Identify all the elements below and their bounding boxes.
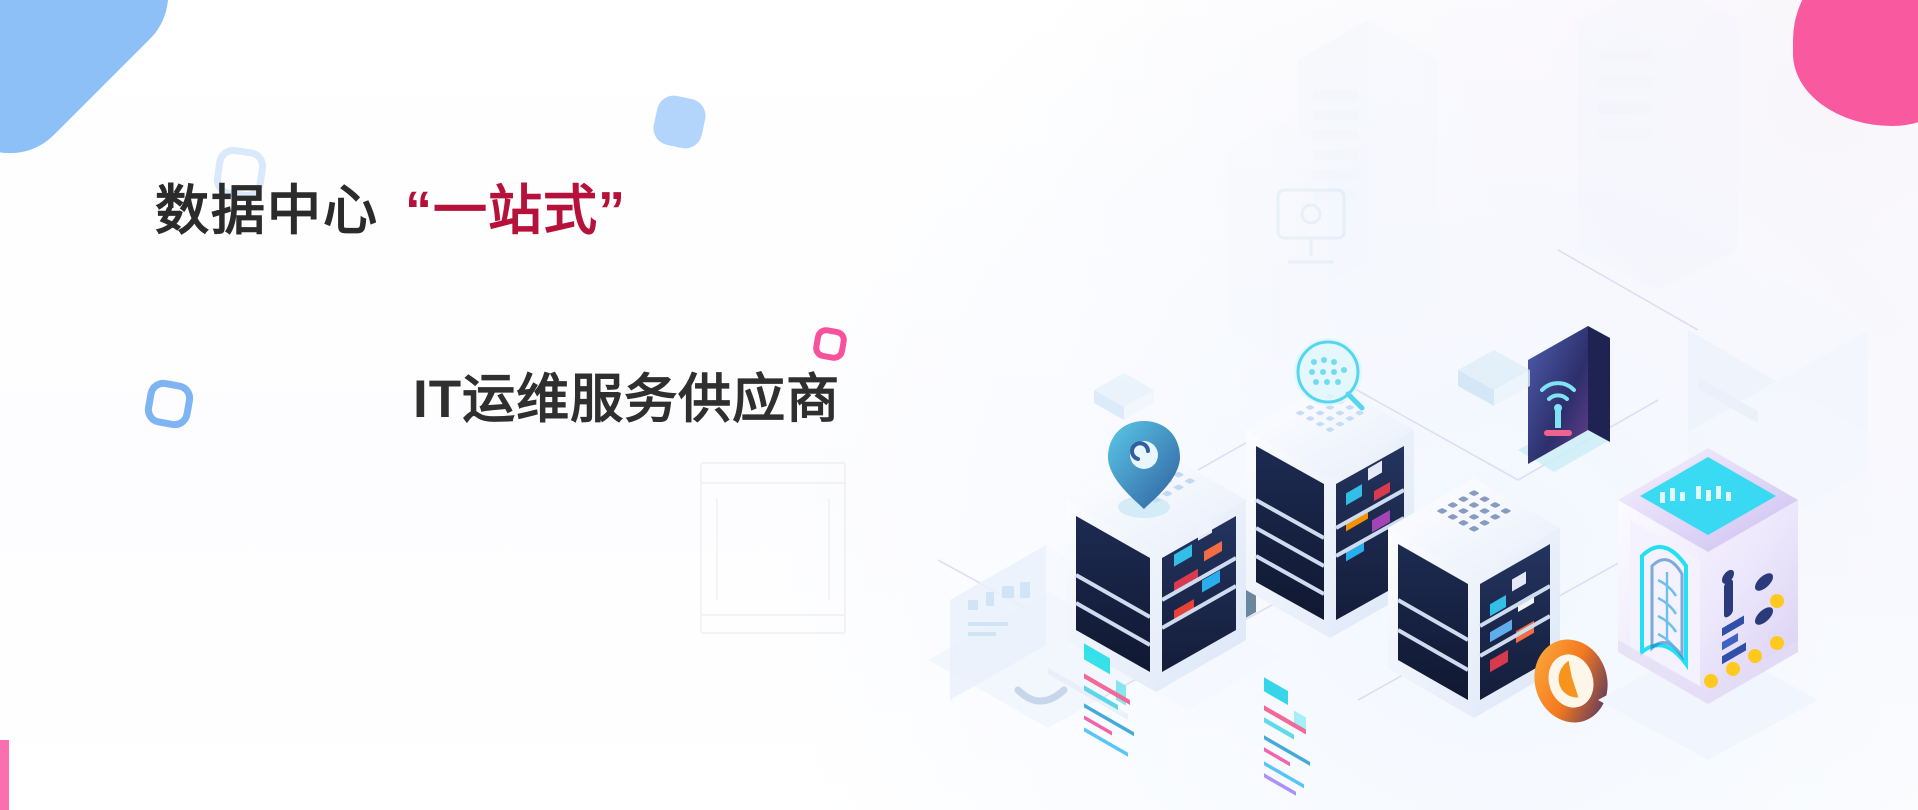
wireframe-cube-icon	[700, 462, 846, 634]
wireframe-cube-inner	[716, 498, 830, 600]
background-buildings	[1228, 0, 1738, 360]
headline-primary: 数据中心“一站式”	[155, 180, 915, 242]
headline-prefix: 数据中心	[155, 181, 379, 241]
datacenter-illustration	[898, 0, 1918, 810]
headline-block: 数据中心“一站式” IT运维服务供应商	[155, 180, 915, 433]
headline-secondary: IT运维服务供应商	[413, 357, 915, 433]
pink-edge-bar	[0, 740, 9, 810]
tablet-wifi-icon	[1518, 326, 1610, 472]
server-rack-right	[1388, 478, 1560, 810]
headline-highlight: “一站式”	[405, 181, 626, 241]
hero-banner: 数据中心“一站式” IT运维服务供应商	[0, 0, 1918, 810]
blue-squircle-solid-icon	[650, 92, 708, 151]
corner-blue-shape	[0, 0, 194, 179]
cooling-unit	[1598, 448, 1818, 760]
